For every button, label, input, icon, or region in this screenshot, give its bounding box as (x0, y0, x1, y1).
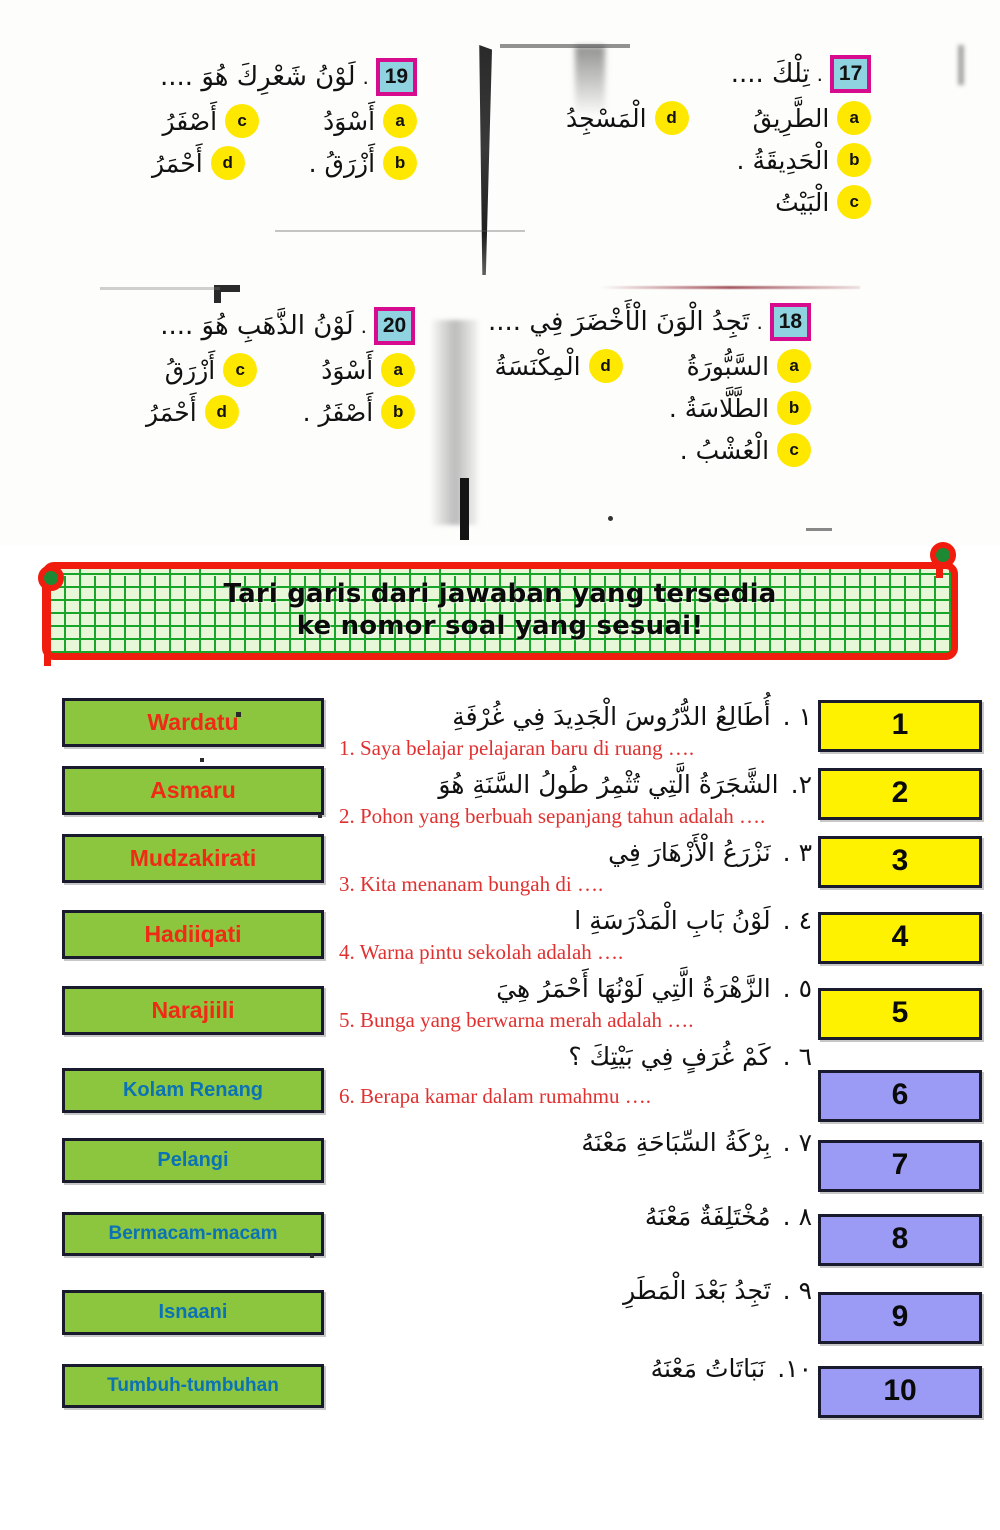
question-arabic-text: بِرْكَةُ السِّبَاحَةِ مَعْنَهُ (581, 1128, 770, 1157)
matching-question-arabic: ٢.الشَّجَرَةُ الَّتِي تُثْمِرُ طُولُ الس… (334, 768, 812, 802)
option-letter-bullet[interactable]: c (225, 104, 259, 138)
question-number-badge: 19 (376, 58, 417, 96)
option-text-arabic: السَّبُّورَةُ (687, 352, 770, 381)
answer-option-box[interactable]: Kolam Renang (62, 1068, 324, 1113)
option-letter-bullet[interactable]: d (211, 146, 245, 180)
option-letter-bullet[interactable]: c (223, 353, 257, 387)
matching-question-item: ٩ .تَجِدُ بَعْدَ الْمَطَرِ (334, 1274, 812, 1308)
question-number-dot: . (757, 309, 763, 335)
mc-question-17: 17.تِلْكَ ....aالطَّرِيقُdالْمَسْجِدُbال… (566, 55, 871, 219)
matching-question-arabic: ٤ .لَوْنُ بَابِ الْمَدْرَسَةِ ا (334, 904, 812, 938)
matching-question-translation: 5. Bunga yang berwarna merah adalah …. (339, 1008, 694, 1034)
question-number-badge: 20 (374, 307, 415, 345)
question-marker: ٦ . (783, 1042, 812, 1071)
matching-exercise-section: WardatuAsmaruMudzakiratiHadiiqatiNarajii… (0, 686, 1000, 1416)
answer-option-box[interactable]: Wardatu (62, 698, 324, 747)
mc-question-19: 19.لَوْنُ شَعْرِكَ هُوَ ....aأَسْوَدُcأَ… (152, 58, 417, 180)
option-text-arabic: الطَّرِيقُ (753, 104, 830, 133)
option-letter-bullet[interactable]: d (655, 101, 689, 135)
mc-option-b[interactable]: bالْحَدِيقَةُ . (737, 143, 872, 177)
question-marker: ٨ . (783, 1202, 812, 1231)
question-number-box[interactable]: 9 (818, 1292, 982, 1344)
scan-artifact-bar (214, 285, 240, 292)
question-number-dot: . (363, 64, 369, 90)
mc-question-header: 20.لَوْنُ الذَّهَبِ هُوَ .... (146, 307, 415, 345)
question-prompt-arabic: لَوْنُ الذَّهَبِ هُوَ .... (160, 311, 353, 341)
ribbon-tail-left (44, 578, 51, 666)
matching-question-item: ٤ .لَوْنُ بَابِ الْمَدْرَسَةِ ا (334, 904, 812, 938)
scan-artifact-smudge (432, 320, 478, 525)
mc-option-c[interactable]: cالْبَيْتُ (775, 185, 871, 219)
matching-question-item: ٧ .بِرْكَةُ السِّبَاحَةِ مَعْنَهُ (334, 1126, 812, 1160)
option-text-arabic: أَزْرَقُ . (309, 149, 375, 178)
scan-artifact-dot (608, 516, 613, 521)
option-letter-bullet[interactable]: a (837, 101, 871, 135)
question-prompt-arabic: تَجِدُ الْوَنَ الْأَخْضَرَ فِي .... (488, 307, 750, 337)
question-marker: ٤ . (783, 906, 812, 935)
option-letter-bullet[interactable]: d (589, 349, 623, 383)
scan-artifact-faint (275, 230, 525, 232)
mc-option-row: bأَصْفَرُ .dأَحْمَرُ (146, 395, 415, 429)
option-text-arabic: الْحَدِيقَةُ . (737, 146, 830, 175)
answer-option-box[interactable]: Tumbuh-tumbuhan (62, 1364, 324, 1408)
question-marker: ٩ . (783, 1276, 812, 1305)
answer-option-box[interactable]: Hadiiqati (62, 910, 324, 959)
option-text-arabic: أَسْوَدُ (321, 356, 373, 385)
option-text-arabic: الطَّلَّاسَةُ . (669, 394, 769, 423)
matching-question-arabic: ٦ .كَمْ غُرَفٍ فِي بَيْتِكَ ؟ (334, 1040, 812, 1074)
question-number-badge: 17 (830, 55, 871, 93)
scan-speck (236, 712, 241, 717)
question-number-badge: 18 (770, 303, 811, 341)
question-marker: ٥ . (783, 974, 812, 1003)
option-text-arabic: أَحْمَرُ (146, 398, 197, 427)
matching-question-item: ٣ .نَزْرَعُ الْأَزْهَارَ فِي (334, 836, 812, 870)
mc-option-row: aالطَّرِيقُdالْمَسْجِدُ (566, 101, 871, 135)
scan-artifact-redline (600, 286, 860, 289)
scan-artifact-bar (460, 478, 469, 540)
mc-option-a[interactable]: aأَسْوَدُ (321, 353, 415, 387)
answer-option-box[interactable]: Bermacam-macam (62, 1212, 324, 1256)
mc-question-header: 19.لَوْنُ شَعْرِكَ هُوَ .... (152, 58, 417, 96)
option-text-arabic: الْعُشْبُ . (680, 436, 769, 465)
ribbon-knob-right-icon (930, 542, 956, 568)
question-arabic-text: كَمْ غُرَفٍ فِي بَيْتِكَ ؟ (568, 1042, 770, 1071)
banner-line-1: Tari garis dari jawaban yang tersedia (224, 579, 777, 611)
option-letter-bullet[interactable]: d (205, 395, 239, 429)
question-marker: ٧ . (783, 1128, 812, 1157)
mc-option-row: aأَسْوَدُcأَزْرَقُ (146, 353, 415, 387)
question-number-box[interactable]: 8 (818, 1214, 982, 1266)
ribbon-knob-left-icon (38, 565, 64, 591)
mc-option-row: bالْحَدِيقَةُ . (566, 143, 871, 177)
option-letter-bullet[interactable]: a (381, 353, 415, 387)
question-prompt-arabic: تِلْكَ .... (731, 59, 810, 89)
matching-question-item: ٢.الشَّجَرَةُ الَّتِي تُثْمِرُ طُولُ الس… (334, 768, 812, 802)
option-text-arabic: الْمِكْنَسَةُ (495, 352, 581, 381)
mc-option-d[interactable]: dالْمَسْجِدُ (566, 101, 689, 135)
scan-artifact-bar (214, 285, 221, 303)
matching-question-translation: 6. Berapa kamar dalam rumahmu …. (339, 1084, 651, 1110)
question-marker: ٢. (791, 770, 812, 799)
mc-option-d[interactable]: dأَحْمَرُ (152, 146, 245, 180)
mc-question-20: 20.لَوْنُ الذَّهَبِ هُوَ ....aأَسْوَدُcأ… (146, 307, 415, 429)
mc-option-d[interactable]: dالْمِكْنَسَةُ (495, 349, 623, 383)
matching-question-arabic: ٣ .نَزْرَعُ الْأَزْهَارَ فِي (334, 836, 812, 870)
question-number-box[interactable]: 10 (818, 1366, 982, 1418)
option-letter-bullet[interactable]: b (383, 146, 417, 180)
option-letter-bullet[interactable]: b (777, 391, 811, 425)
mc-option-d[interactable]: dأَحْمَرُ (146, 395, 239, 429)
matching-question-arabic: ١٠.نَبَاتَاتُ مَعْنَهُ (334, 1352, 812, 1386)
mc-option-row: bالطَّلَّاسَةُ . (488, 391, 811, 425)
question-marker: ١٠. (777, 1354, 812, 1383)
mc-option-row: bأَزْرَقُ .dأَحْمَرُ (152, 146, 417, 180)
question-number-box[interactable]: 4 (818, 912, 982, 964)
mc-option-b[interactable]: bأَزْرَقُ . (309, 146, 417, 180)
banner-text: Tari garis dari jawaban yang tersedia ke… (194, 579, 807, 642)
question-number-box[interactable]: 5 (818, 988, 982, 1040)
option-letter-bullet[interactable]: c (777, 433, 811, 467)
question-number-box[interactable]: 7 (818, 1140, 982, 1192)
mc-option-c[interactable]: cالْعُشْبُ . (680, 433, 811, 467)
option-letter-bullet[interactable]: c (837, 185, 871, 219)
question-number-box[interactable]: 3 (818, 836, 982, 888)
option-text-arabic: الْمَسْجِدُ (566, 104, 647, 133)
scanned-multiple-choice-section: 17.تِلْكَ ....aالطَّرِيقُdالْمَسْجِدُbال… (0, 0, 1000, 545)
matching-question-arabic: ٧ .بِرْكَةُ السِّبَاحَةِ مَعْنَهُ (334, 1126, 812, 1160)
option-text-arabic: أَحْمَرُ (152, 149, 203, 178)
mc-option-a[interactable]: aالطَّرِيقُ (753, 101, 872, 135)
mc-option-row: aالسَّبُّورَةُdالْمِكْنَسَةُ (488, 349, 811, 383)
question-number-box[interactable]: 1 (818, 700, 982, 752)
matching-question-item: ٥ .الزَّهْرَةُ الَّتِي لَوْنُهَا أَحْمَر… (334, 972, 812, 1006)
mc-option-row: cالْعُشْبُ . (488, 433, 811, 467)
mc-option-c[interactable]: cأَزْرَقُ (165, 353, 258, 387)
mc-option-row: cالْبَيْتُ (566, 185, 871, 219)
question-arabic-text: أُطَالِعُ الدُّرُوسَ الْجَدِيدَ فِي غُرْ… (452, 702, 770, 731)
matching-question-arabic: ٨ .مُخْتَلِفَةٌ مَعْنَهُ (334, 1200, 812, 1234)
mc-option-a[interactable]: aالسَّبُّورَةُ (687, 349, 812, 383)
answer-option-box[interactable]: Mudzakirati (62, 834, 324, 883)
mc-option-b[interactable]: bأَصْفَرُ . (303, 395, 416, 429)
matching-question-arabic: ٩ .تَجِدُ بَعْدَ الْمَطَرِ (334, 1274, 812, 1308)
question-arabic-text: الزَّهْرَةُ الَّتِي لَوْنُهَا أَحْمَرُ ه… (496, 974, 770, 1003)
option-letter-bullet[interactable]: b (837, 143, 871, 177)
question-arabic-text: مُخْتَلِفَةٌ مَعْنَهُ (645, 1202, 771, 1231)
matching-question-item: ٦ .كَمْ غُرَفٍ فِي بَيْتِكَ ؟ (334, 1040, 812, 1074)
mc-question-header: 18.تَجِدُ الْوَنَ الْأَخْضَرَ فِي .... (488, 303, 811, 341)
mc-option-a[interactable]: aأَسْوَدُ (323, 104, 417, 138)
scan-artifact-wedge (470, 45, 492, 275)
mc-option-b[interactable]: bالطَّلَّاسَةُ . (669, 391, 811, 425)
matching-question-item: ٨ .مُخْتَلِفَةٌ مَعْنَهُ (334, 1200, 812, 1234)
scan-artifact-dot (806, 528, 832, 531)
question-arabic-text: نَبَاتَاتُ مَعْنَهُ (651, 1354, 766, 1383)
option-letter-bullet[interactable]: a (383, 104, 417, 138)
question-arabic-text: تَجِدُ بَعْدَ الْمَطَرِ (623, 1276, 771, 1305)
option-text-arabic: أَسْوَدُ (323, 107, 375, 136)
question-prompt-arabic: لَوْنُ شَعْرِكَ هُوَ .... (160, 62, 356, 92)
scan-artifact-faint (100, 287, 220, 290)
scan-speck (310, 1254, 314, 1258)
question-arabic-text: لَوْنُ بَابِ الْمَدْرَسَةِ ا (574, 906, 770, 935)
question-number-dot: . (361, 313, 367, 339)
question-arabic-text: الشَّجَرَةُ الَّتِي تُثْمِرُ طُولُ السَّ… (438, 770, 778, 799)
question-number-box[interactable]: 2 (818, 768, 982, 820)
scan-artifact-line (500, 44, 630, 48)
question-arabic-text: نَزْرَعُ الْأَزْهَارَ فِي (608, 838, 771, 867)
answer-option-box[interactable]: Narajiili (62, 986, 324, 1035)
option-letter-bullet[interactable]: a (777, 349, 811, 383)
matching-question-translation: 2. Pohon yang berbuah sepanjang tahun ad… (339, 804, 765, 830)
question-marker: ١ . (783, 702, 812, 731)
matching-question-translation: 4. Warna pintu sekolah adalah …. (339, 940, 623, 966)
mc-option-c[interactable]: cأَصْفَرُ (162, 104, 259, 138)
matching-question-arabic: ١ .أُطَالِعُ الدُّرُوسَ الْجَدِيدَ فِي غ… (334, 700, 812, 734)
mc-question-18: 18.تَجِدُ الْوَنَ الْأَخْضَرَ فِي ....aا… (488, 303, 811, 467)
question-number-dot: . (817, 61, 823, 87)
answer-option-box[interactable]: Asmaru (62, 766, 324, 815)
scan-speck (318, 814, 322, 818)
matching-question-arabic: ٥ .الزَّهْرَةُ الَّتِي لَوْنُهَا أَحْمَر… (334, 972, 812, 1006)
matching-question-translation: 3. Kita menanam bungah di …. (339, 872, 603, 898)
option-text-arabic: أَصْفَرُ (162, 107, 217, 136)
matching-question-item: ١ .أُطَالِعُ الدُّرُوسَ الْجَدِيدَ فِي غ… (334, 700, 812, 734)
option-text-arabic: الْبَيْتُ (775, 188, 829, 217)
mc-option-row: aأَسْوَدُcأَصْفَرُ (152, 104, 417, 138)
banner-brick-panel: Tari garis dari jawaban yang tersedia ke… (42, 562, 958, 660)
mc-question-header: 17.تِلْكَ .... (566, 55, 871, 93)
option-text-arabic: أَصْفَرُ . (303, 398, 374, 427)
matching-question-item: ١٠.نَبَاتَاتُ مَعْنَهُ (334, 1352, 812, 1386)
scan-artifact-edge (958, 45, 964, 85)
question-number-box[interactable]: 6 (818, 1070, 982, 1122)
banner-line-2: ke nomor soal yang sesuai! (224, 611, 777, 643)
instruction-banner: Tari garis dari jawaban yang tersedia ke… (30, 548, 970, 670)
matching-question-translation: 1. Saya belajar pelajaran baru di ruang … (339, 736, 694, 762)
answer-option-box[interactable]: Pelangi (62, 1138, 324, 1183)
question-marker: ٣ . (783, 838, 812, 867)
option-text-arabic: أَزْرَقُ (165, 356, 216, 385)
option-letter-bullet[interactable]: b (381, 395, 415, 429)
scan-speck (200, 758, 204, 762)
answer-option-box[interactable]: Isnaani (62, 1290, 324, 1335)
